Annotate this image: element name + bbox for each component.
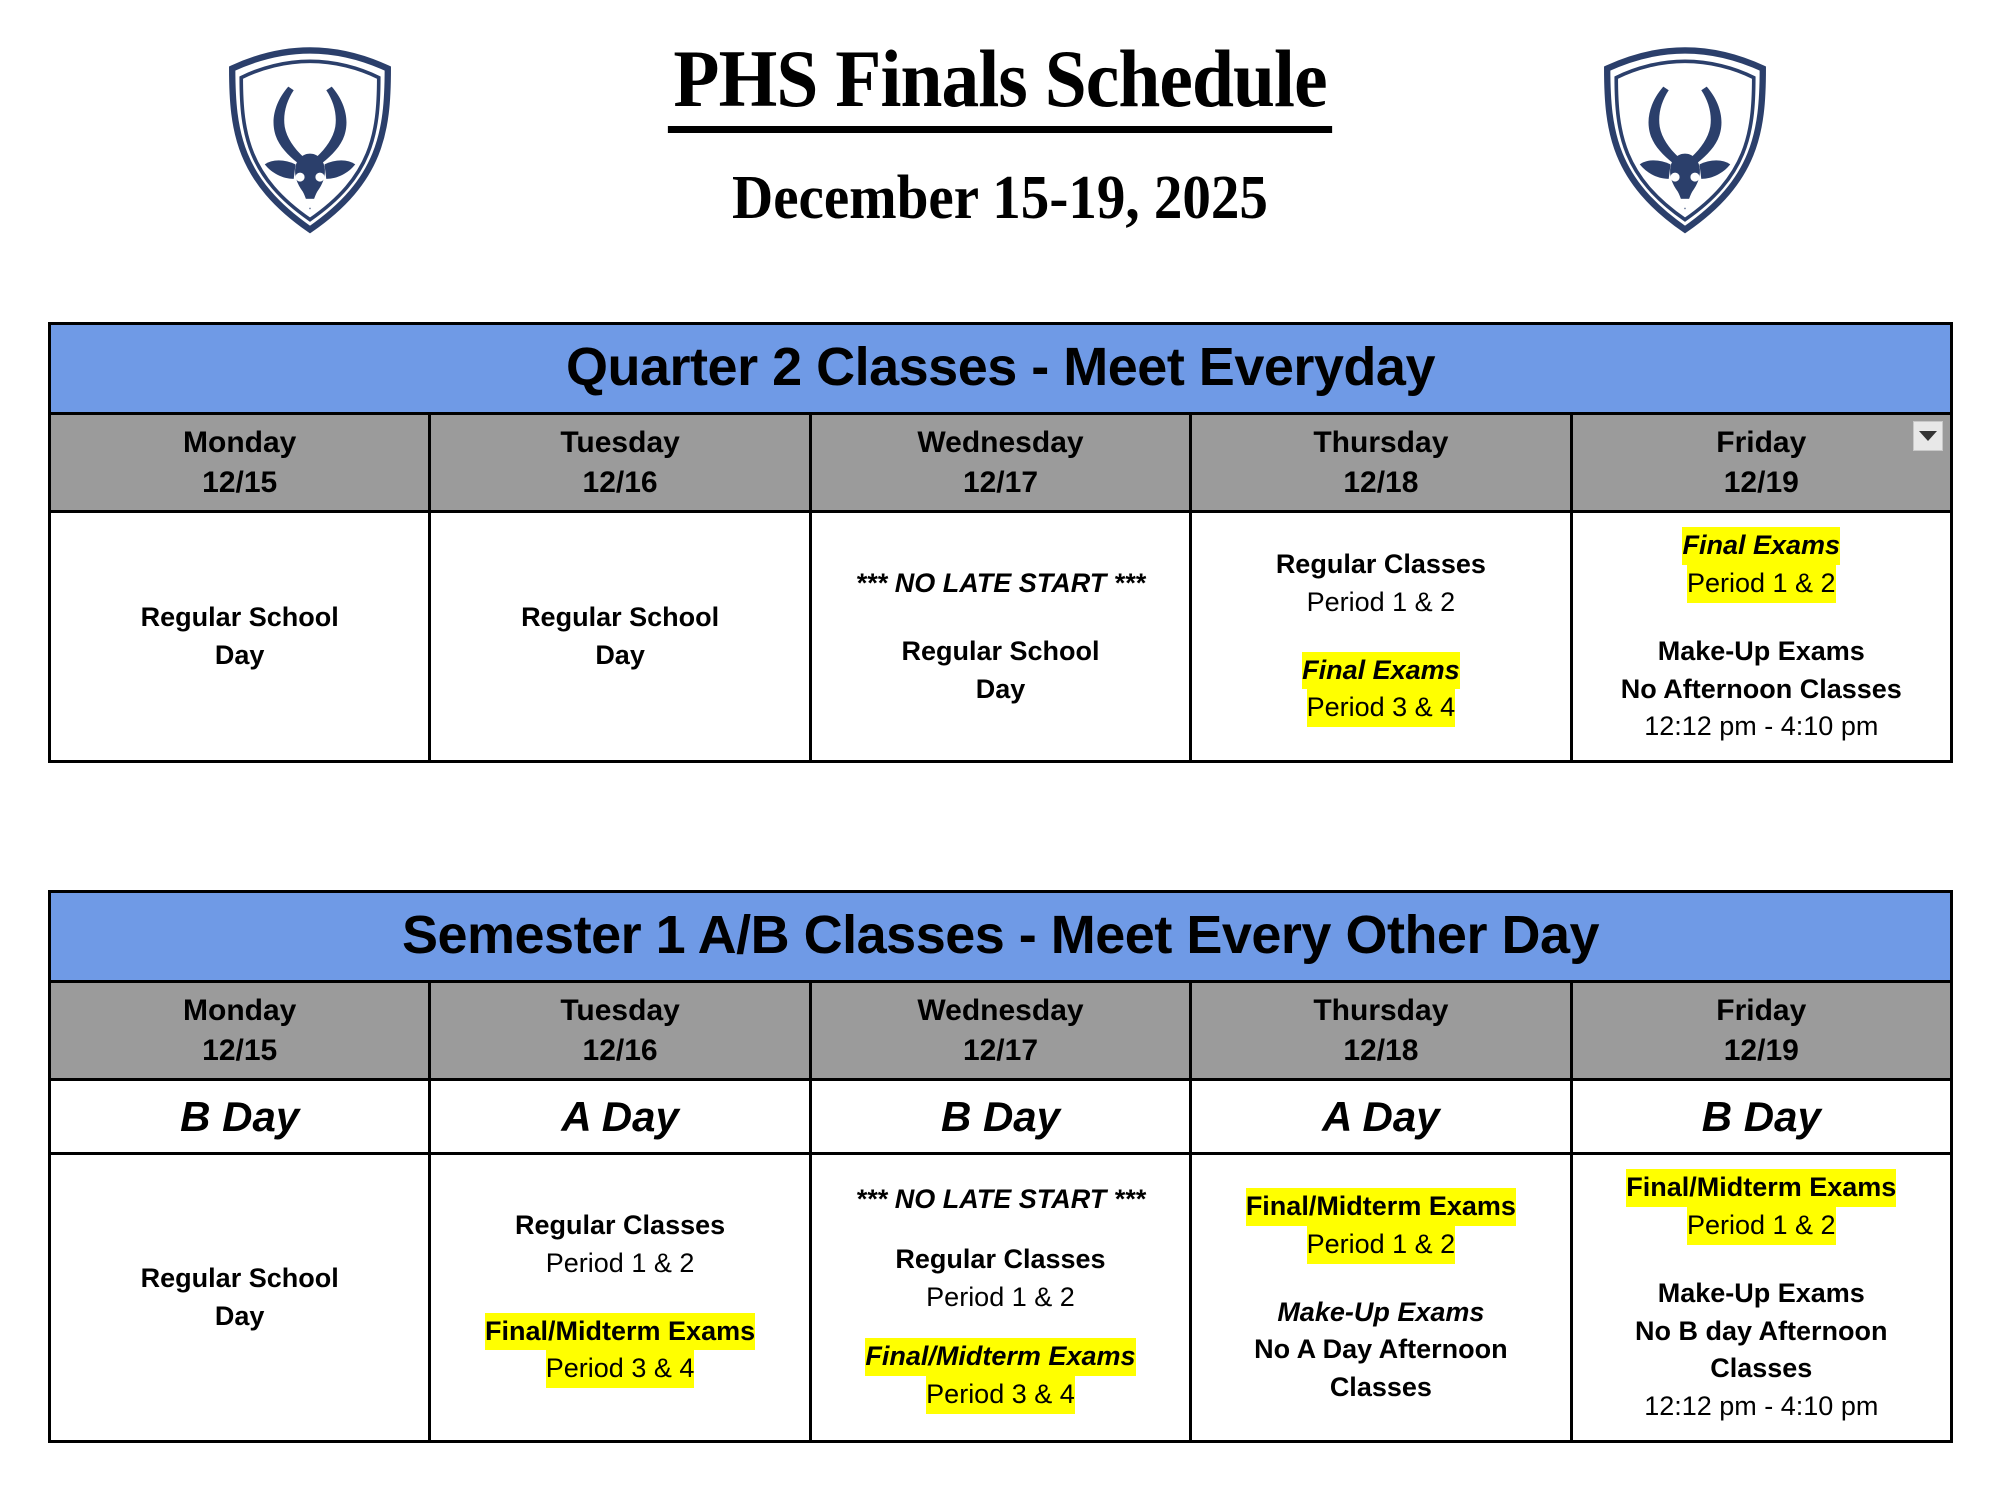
day-name: Tuesday bbox=[435, 423, 804, 463]
cell-line: Period 3 & 4 bbox=[1307, 689, 1456, 727]
cell-line-wrap: Final Exams bbox=[1200, 652, 1561, 690]
cell-line-wrap: Period 1 & 2 bbox=[1200, 584, 1561, 622]
cell-line-wrap: Regular School bbox=[820, 633, 1181, 671]
quarter-2-band-title: Quarter 2 Classes - Meet Everyday bbox=[50, 324, 1952, 414]
cell-line: Final Exams bbox=[1302, 652, 1460, 690]
ab-day-wednesday: B Day bbox=[810, 1080, 1190, 1154]
cell-line: *** NO LATE START *** bbox=[856, 1181, 1146, 1219]
cell-line: Final Exams bbox=[1682, 527, 1840, 565]
cell-monday: Regular SchoolDay bbox=[50, 512, 430, 762]
day-name: Friday bbox=[1577, 991, 1946, 1031]
cell-line-wrap: Regular School bbox=[59, 1260, 420, 1298]
cell-line-wrap: Period 1 & 2 bbox=[1581, 565, 1942, 603]
cell-line: *** NO LATE START *** bbox=[856, 565, 1146, 603]
cell-line-wrap: Regular School bbox=[439, 599, 800, 637]
spacer bbox=[820, 603, 1181, 633]
cell-line: Make-Up Exams bbox=[1277, 1294, 1484, 1332]
cell-line: Final/Midterm Exams bbox=[485, 1313, 755, 1351]
cell-friday: Final ExamsPeriod 1 & 2Make-Up ExamsNo A… bbox=[1571, 512, 1951, 762]
cell-line: 12:12 pm - 4:10 pm bbox=[1644, 708, 1878, 746]
cell-line-wrap: Make-Up Exams bbox=[1581, 1275, 1942, 1313]
cell-line: Day bbox=[595, 637, 645, 675]
cell-line-wrap: No Afternoon Classes bbox=[1581, 671, 1942, 709]
semester-1-ab-schedule-table: Semester 1 A/B Classes - Meet Every Othe… bbox=[48, 890, 1953, 1443]
day-name: Wednesday bbox=[816, 991, 1185, 1031]
day-date: 12/15 bbox=[55, 463, 424, 503]
day-name: Wednesday bbox=[816, 423, 1185, 463]
cell-line-wrap: Day bbox=[59, 1298, 420, 1336]
day-name: Tuesday bbox=[435, 991, 804, 1031]
day-name: Monday bbox=[55, 423, 424, 463]
cell-line: Classes bbox=[1710, 1350, 1812, 1388]
cell-line: Period 1 & 2 bbox=[1307, 584, 1456, 622]
day-header-monday: Monday 12/15 bbox=[50, 414, 430, 512]
cell-line-wrap: Period 3 & 4 bbox=[1200, 689, 1561, 727]
cell-line-wrap: Regular Classes bbox=[820, 1241, 1181, 1279]
day-header-wednesday: Wednesday 12/17 bbox=[810, 982, 1190, 1080]
cell-line: Regular School bbox=[141, 599, 339, 637]
page-title: PHS Finals Schedule bbox=[668, 38, 1332, 133]
cell-tuesday: Regular SchoolDay bbox=[430, 512, 810, 762]
day-header-friday: Friday 12/19 bbox=[1571, 414, 1951, 512]
cell-line: Regular School bbox=[901, 633, 1099, 671]
semester-1-band-title: Semester 1 A/B Classes - Meet Every Othe… bbox=[50, 892, 1952, 982]
cell-line-wrap: Make-Up Exams bbox=[1581, 633, 1942, 671]
cell-line-wrap: Period 3 & 4 bbox=[439, 1350, 800, 1388]
cell-line-wrap: Make-Up Exams bbox=[1200, 1294, 1561, 1332]
cell-wednesday: *** NO LATE START ***Regular ClassesPeri… bbox=[810, 1154, 1190, 1442]
day-header-monday: Monday 12/15 bbox=[50, 982, 430, 1080]
table-band-row: Semester 1 A/B Classes - Meet Every Othe… bbox=[50, 892, 1952, 982]
cell-line-wrap: Day bbox=[59, 637, 420, 675]
table-body-row: Regular SchoolDay Regular ClassesPeriod … bbox=[50, 1154, 1952, 1442]
day-name: Thursday bbox=[1196, 423, 1565, 463]
cell-line: Regular Classes bbox=[515, 1207, 725, 1245]
day-header-wednesday: Wednesday 12/17 bbox=[810, 414, 1190, 512]
cell-line-wrap: Period 1 & 2 bbox=[1200, 1226, 1561, 1264]
day-header-row: Monday 12/15 Tuesday 12/16 Wednesday 12/… bbox=[50, 982, 1952, 1080]
cell-line: Period 1 & 2 bbox=[926, 1279, 1075, 1317]
day-name: Monday bbox=[55, 991, 424, 1031]
cell-line: 12:12 pm - 4:10 pm bbox=[1644, 1388, 1878, 1426]
cell-line-wrap: Final Exams bbox=[1581, 527, 1942, 565]
day-header-row: Monday 12/15 Tuesday 12/16 Wednesday 12/… bbox=[50, 414, 1952, 512]
day-date: 12/18 bbox=[1196, 1031, 1565, 1071]
spacer bbox=[439, 1283, 800, 1313]
cell-line: Day bbox=[976, 671, 1026, 709]
quarter-2-schedule-table: Quarter 2 Classes - Meet Everyday Monday… bbox=[48, 322, 1953, 763]
spacer bbox=[1581, 1245, 1942, 1275]
day-date: 12/19 bbox=[1577, 463, 1946, 503]
day-header-thursday: Thursday 12/18 bbox=[1191, 982, 1571, 1080]
day-date: 12/16 bbox=[435, 463, 804, 503]
cell-line-wrap: 12:12 pm - 4:10 pm bbox=[1581, 1388, 1942, 1426]
cell-line-wrap: Regular Classes bbox=[439, 1207, 800, 1245]
cell-monday: Regular SchoolDay bbox=[50, 1154, 430, 1442]
shield-antelope-icon bbox=[1590, 45, 1780, 235]
cell-line: Make-Up Exams bbox=[1658, 633, 1865, 671]
cell-line-wrap: Period 1 & 2 bbox=[439, 1245, 800, 1283]
day-date: 12/18 bbox=[1196, 463, 1565, 503]
day-date: 12/16 bbox=[435, 1031, 804, 1071]
cell-line-wrap: *** NO LATE START *** bbox=[820, 1181, 1181, 1219]
cell-line-wrap: Classes bbox=[1200, 1369, 1561, 1407]
cell-line: Final/Midterm Exams bbox=[1246, 1188, 1516, 1226]
cell-line-wrap: No B day Afternoon bbox=[1581, 1313, 1942, 1351]
day-date: 12/19 bbox=[1577, 1031, 1946, 1071]
cell-line-wrap: Final/Midterm Exams bbox=[439, 1313, 800, 1351]
cell-line: No Afternoon Classes bbox=[1621, 671, 1902, 709]
cell-line-wrap: 12:12 pm - 4:10 pm bbox=[1581, 708, 1942, 746]
chevron-down-icon[interactable] bbox=[1913, 421, 1943, 451]
cell-line-wrap: Period 1 & 2 bbox=[1581, 1207, 1942, 1245]
day-name: Thursday bbox=[1196, 991, 1565, 1031]
spacer bbox=[1200, 1264, 1561, 1294]
cell-line-wrap: Classes bbox=[1581, 1350, 1942, 1388]
ab-day-row: B Day A Day B Day A Day B Day bbox=[50, 1080, 1952, 1154]
day-header-tuesday: Tuesday 12/16 bbox=[430, 414, 810, 512]
table-body-row: Regular SchoolDay Regular SchoolDay *** … bbox=[50, 512, 1952, 762]
cell-line: No B day Afternoon bbox=[1635, 1313, 1888, 1351]
cell-line: Regular Classes bbox=[1276, 546, 1486, 584]
day-header-thursday: Thursday 12/18 bbox=[1191, 414, 1571, 512]
day-header-friday: Friday 12/19 bbox=[1571, 982, 1951, 1080]
caret-glyph bbox=[1919, 431, 1937, 441]
cell-line: Regular School bbox=[141, 1260, 339, 1298]
cell-line: Final/Midterm Exams bbox=[1626, 1169, 1896, 1207]
cell-line: Period 1 & 2 bbox=[1687, 565, 1836, 603]
page-header: PHS Finals Schedule December 15-19, 2025 bbox=[0, 0, 2000, 300]
cell-line: Regular School bbox=[521, 599, 719, 637]
cell-line: Day bbox=[215, 637, 265, 675]
cell-line-wrap: No A Day Afternoon bbox=[1200, 1331, 1561, 1369]
day-date: 12/15 bbox=[55, 1031, 424, 1071]
table-band-row: Quarter 2 Classes - Meet Everyday bbox=[50, 324, 1952, 414]
spacer bbox=[820, 1219, 1181, 1241]
day-header-tuesday: Tuesday 12/16 bbox=[430, 982, 810, 1080]
cell-tuesday: Regular ClassesPeriod 1 & 2Final/Midterm… bbox=[430, 1154, 810, 1442]
ab-day-thursday: A Day bbox=[1191, 1080, 1571, 1154]
cell-line: Final/Midterm Exams bbox=[865, 1338, 1135, 1376]
ab-day-monday: B Day bbox=[50, 1080, 430, 1154]
cell-line: Classes bbox=[1330, 1369, 1432, 1407]
cell-line: Period 3 & 4 bbox=[926, 1376, 1075, 1414]
cell-line: Period 1 & 2 bbox=[1307, 1226, 1456, 1264]
spacer bbox=[820, 1316, 1181, 1338]
cell-line-wrap: Period 1 & 2 bbox=[820, 1279, 1181, 1317]
cell-line-wrap: Final/Midterm Exams bbox=[1581, 1169, 1942, 1207]
cell-line-wrap: Day bbox=[439, 637, 800, 675]
ab-day-tuesday: A Day bbox=[430, 1080, 810, 1154]
cell-line-wrap: Final/Midterm Exams bbox=[1200, 1188, 1561, 1226]
cell-thursday: Regular ClassesPeriod 1 & 2Final ExamsPe… bbox=[1191, 512, 1571, 762]
spacer bbox=[1581, 603, 1942, 633]
spacer bbox=[1200, 622, 1561, 652]
cell-line: Regular Classes bbox=[895, 1241, 1105, 1279]
ab-day-friday: B Day bbox=[1571, 1080, 1951, 1154]
cell-line-wrap: Period 3 & 4 bbox=[820, 1376, 1181, 1414]
cell-line: Period 3 & 4 bbox=[546, 1350, 695, 1388]
finals-schedule-page: PHS Finals Schedule December 15-19, 2025 bbox=[0, 0, 2000, 1494]
cell-line: Make-Up Exams bbox=[1658, 1275, 1865, 1313]
cell-line-wrap: Regular Classes bbox=[1200, 546, 1561, 584]
day-date: 12/17 bbox=[816, 1031, 1185, 1071]
day-name: Friday bbox=[1577, 423, 1946, 463]
day-date: 12/17 bbox=[816, 463, 1185, 503]
cell-wednesday: *** NO LATE START ***Regular SchoolDay bbox=[810, 512, 1190, 762]
cell-thursday: Final/Midterm ExamsPeriod 1 & 2Make-Up E… bbox=[1191, 1154, 1571, 1442]
cell-friday: Final/Midterm ExamsPeriod 1 & 2Make-Up E… bbox=[1571, 1154, 1951, 1442]
cell-line-wrap: Day bbox=[820, 671, 1181, 709]
cell-line-wrap: Final/Midterm Exams bbox=[820, 1338, 1181, 1376]
cell-line-wrap: Regular School bbox=[59, 599, 420, 637]
cell-line: Period 1 & 2 bbox=[1687, 1207, 1836, 1245]
cell-line-wrap: *** NO LATE START *** bbox=[820, 565, 1181, 603]
school-logo-right bbox=[1590, 45, 1780, 235]
cell-line: No A Day Afternoon bbox=[1254, 1331, 1508, 1369]
cell-line: Day bbox=[215, 1298, 265, 1336]
cell-line: Period 1 & 2 bbox=[546, 1245, 695, 1283]
